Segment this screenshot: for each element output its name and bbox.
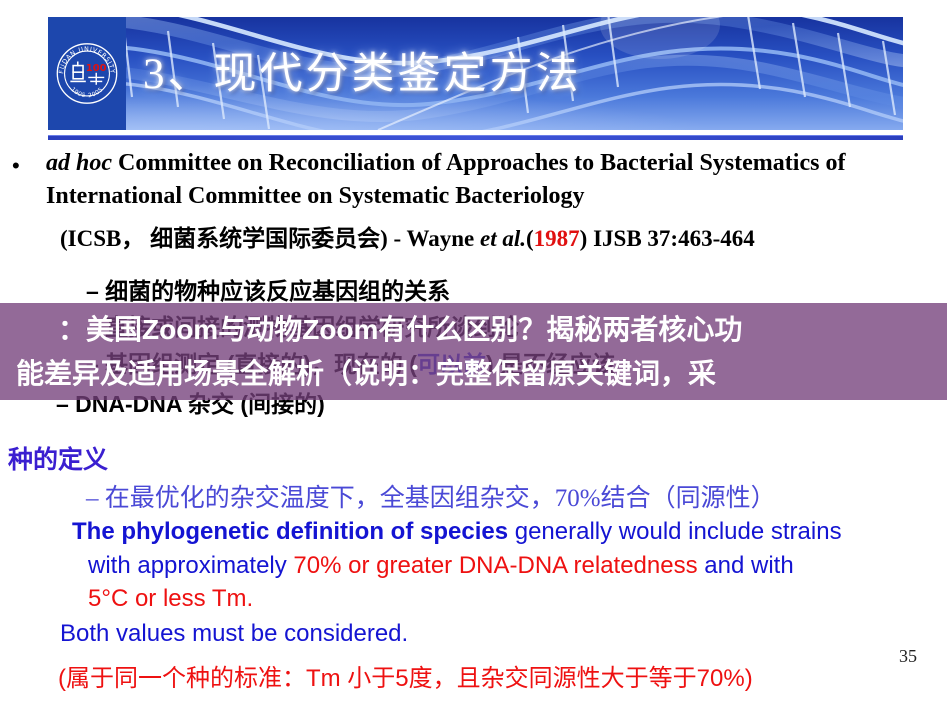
bullet-marker: • [12,155,20,177]
body-line-2: International Committee on Systematic Ba… [46,183,585,210]
citation-et-al: et al. [480,226,526,251]
overlay-banner-line-1: ：美国Zoom与动物Zoom有什么区别？揭秘两者核心功 [16,308,931,352]
slide-header-banner: FUDAN UNIVERSITY 1905-2005 100 [48,17,903,130]
phylogenetic-definition-rest: generally would include strains [508,518,842,545]
body-line-1: ad hoc Committee on Reconciliation of Ap… [46,150,845,177]
english-definition-line-1: The phylogenetic definition of species g… [72,518,842,546]
sub-bullet-hybridization-conditions: – 在最优化的杂交温度下，全基因组杂交，70%结合（同源性） [86,478,776,514]
section-heading-species-definition: 种的定义 [8,440,108,476]
latin-phrase-ad-hoc: ad hoc [46,150,112,176]
svg-text:1905-2005: 1905-2005 [69,86,105,99]
chinese-criteria-note: (属于同一个种的标准：Tm 小于5度，且杂交同源性大于等于70%) [58,658,753,693]
header-divider-rule [48,135,903,140]
definition-relatedness-highlight: 70% or greater DNA-DNA relatedness [293,552,697,579]
logo-panel: FUDAN UNIVERSITY 1905-2005 100 [48,17,126,130]
citation-year: 1987 [534,226,580,251]
fudan-university-emblem-icon: FUDAN UNIVERSITY 1905-2005 100 [54,32,120,115]
sub-bullet-genome-relation: – 细菌的物种应该反应基因组的关系 [86,272,450,306]
citation-suffix: ) IJSB 37:463-464 [580,226,755,251]
presentation-slide: FUDAN UNIVERSITY 1905-2005 100 [0,0,947,705]
body-line-1-rest: Committee on Reconciliation of Approache… [112,150,845,176]
slide-title: 3、现代分类鉴定方法 [143,39,582,101]
english-definition-line-3: 5°C or less Tm. [88,585,253,613]
overlay-banner-line-2: 能差异及适用场景全解析（说明：完整保留原关键词，采 [16,352,931,396]
citation-prefix: (ICSB， 细菌系统学国际委员会) - Wayne [60,226,480,251]
phylogenetic-definition-bold: The phylogenetic definition of species [72,518,508,545]
body-line-3-citation: (ICSB， 细菌系统学国际委员会) - Wayne et al.(1987) … [60,219,755,253]
english-definition-line-2: with approximately 70% or greater DNA-DN… [88,552,794,580]
overlay-banner: ：美国Zoom与动物Zoom有什么区别？揭秘两者核心功 能差异及适用场景全解析（… [0,303,947,400]
definition-line-2-post: and with [698,552,794,579]
slide-page-number: 35 [899,646,917,667]
both-values-statement: Both values must be considered. [60,620,408,648]
svg-text:100: 100 [86,63,107,74]
definition-line-2-pre: with approximately [88,552,293,579]
